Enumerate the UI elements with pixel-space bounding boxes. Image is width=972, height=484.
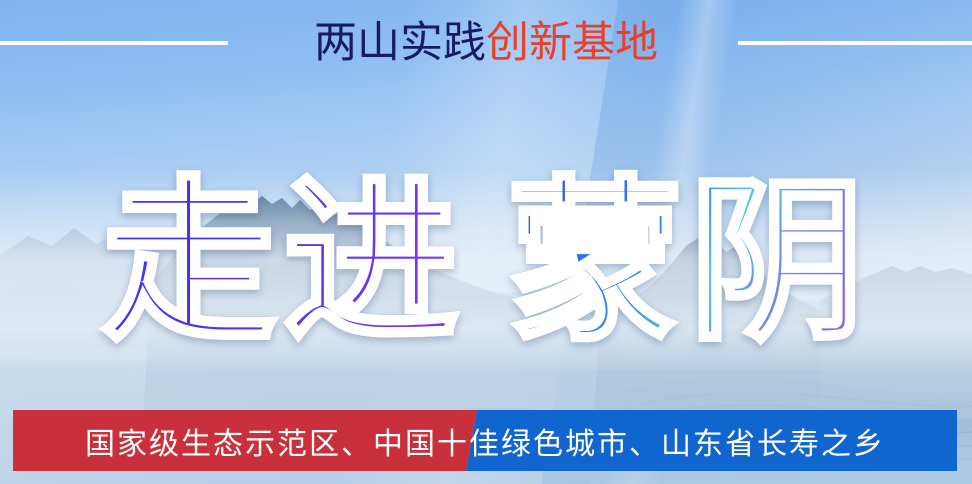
header-title-dark: 两山实践 <box>314 18 486 68</box>
header-title: 两山实践创新基地 <box>314 22 658 65</box>
main-title-part-one: 走进 <box>101 175 465 351</box>
horizontal-rule-right-icon <box>738 41 972 45</box>
header-block: 两山实践创新基地 <box>0 14 972 72</box>
header-title-red: 创新基地 <box>486 18 658 68</box>
horizontal-rule-left-icon <box>0 41 228 45</box>
promo-banner: 两山实践创新基地 走进 蒙阴 国家级生态示范区、中国十佳绿色城市、山东省长寿之乡 <box>0 0 972 484</box>
tagline-text: 国家级生态示范区、中国十佳绿色城市、山东省长寿之乡 <box>13 410 957 471</box>
main-title: 走进 蒙阴 <box>0 160 972 365</box>
main-title-part-two: 蒙阴 <box>507 175 871 351</box>
tagline-bar: 国家级生态示范区、中国十佳绿色城市、山东省长寿之乡 <box>13 410 957 471</box>
